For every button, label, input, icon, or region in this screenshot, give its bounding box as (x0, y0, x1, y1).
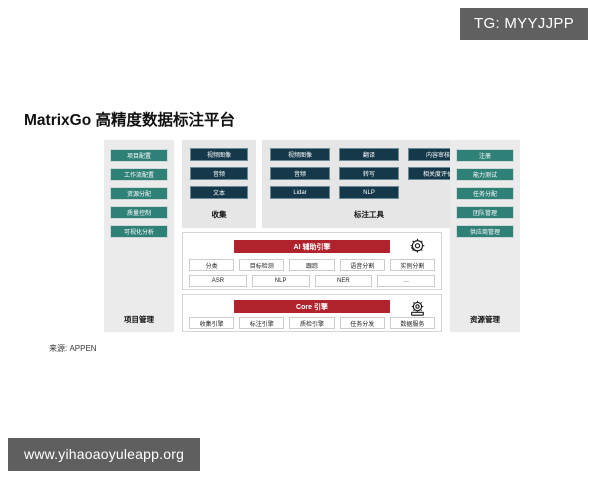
core-chip-3[interactable]: 任务分发 (340, 317, 385, 329)
ai-engine-row-a: 分类 目标检测 跟踪 语音分割 实例分割 (189, 259, 435, 271)
tools-column-1: 翻译 转写 NLP (339, 148, 399, 199)
tools-item-0-0[interactable]: 视频图像 (270, 148, 330, 161)
collect-item-0[interactable]: 视频图像 (190, 148, 248, 161)
ai-engine-panel: AI 辅助引擎 分类 目标检测 跟踪 语音分割 实例分割 ASR NLP NER… (182, 232, 442, 290)
collect-item-1[interactable]: 音频 (190, 167, 248, 180)
right-item-4[interactable]: 供应商管理 (456, 225, 514, 238)
page-title: MatrixGo 高精度数据标注平台 (24, 108, 235, 130)
left-item-2[interactable]: 资源分配 (110, 187, 168, 200)
left-item-4[interactable]: 可视化分析 (110, 225, 168, 238)
tools-item-1-0[interactable]: 翻译 (339, 148, 399, 161)
left-item-0[interactable]: 项目配置 (110, 149, 168, 162)
architecture-diagram: 项目配置 工作流配置 资源分配 质量控制 可视化分析 项目管理 视频图像 音频 … (104, 140, 520, 332)
core-chip-2[interactable]: 质检引擎 (289, 317, 334, 329)
tools-item-1-1[interactable]: 转写 (339, 167, 399, 180)
center-stack: 视频图像 音频 文本 收集 视频图像 音频 Lidar 翻译 转写 (182, 140, 442, 332)
core-gear-server-icon (408, 299, 427, 318)
ai-chip-b-3[interactable]: … (377, 275, 435, 287)
right-item-0[interactable]: 注册 (456, 149, 514, 162)
collect-group-label: 收集 (182, 209, 256, 220)
collect-item-2[interactable]: 文本 (190, 186, 248, 199)
ai-chip-b-1[interactable]: NLP (252, 275, 310, 287)
collect-items: 视频图像 音频 文本 (190, 148, 248, 199)
collect-group: 视频图像 音频 文本 收集 (182, 140, 256, 228)
annotation-tools-columns: 视频图像 音频 Lidar 翻译 转写 NLP 内容审核 相关度评价 (270, 148, 468, 199)
core-engine-panel: Core 引擎 收集引擎 标注引擎 质检引擎 任务分发 数据服务 (182, 294, 442, 332)
right-column-resource-management: 注册 能力测试 任务分配 团队管理 供应商管理 资源管理 (450, 140, 520, 332)
core-chip-0[interactable]: 收集引擎 (189, 317, 234, 329)
right-item-1[interactable]: 能力测试 (456, 168, 514, 181)
left-column-label: 项目管理 (104, 314, 174, 325)
right-column-label: 资源管理 (450, 314, 520, 325)
core-chip-1[interactable]: 标注引擎 (239, 317, 284, 329)
ai-gear-eye-icon (408, 237, 427, 256)
left-item-1[interactable]: 工作流配置 (110, 168, 168, 181)
tools-item-1-2[interactable]: NLP (339, 186, 399, 199)
ai-chip-b-2[interactable]: NER (315, 275, 373, 287)
watermark-url: www.yihaoaoyuleapp.org (8, 438, 200, 471)
tools-item-0-2[interactable]: Lidar (270, 186, 330, 199)
right-item-2[interactable]: 任务分配 (456, 187, 514, 200)
ai-engine-row-b: ASR NLP NER … (189, 275, 435, 287)
right-item-3[interactable]: 团队管理 (456, 206, 514, 219)
core-engine-row-a: 收集引擎 标注引擎 质检引擎 任务分发 数据服务 (189, 317, 435, 329)
ai-chip-a-0[interactable]: 分类 (189, 259, 234, 271)
tools-item-0-1[interactable]: 音频 (270, 167, 330, 180)
ai-chip-b-0[interactable]: ASR (189, 275, 247, 287)
tg-badge: TG: MYYJJPP (460, 8, 588, 40)
left-column-project-management: 项目配置 工作流配置 资源分配 质量控制 可视化分析 项目管理 (104, 140, 174, 332)
source-note: 来源: APPEN (49, 343, 97, 354)
ai-chip-a-3[interactable]: 语音分割 (340, 259, 385, 271)
tools-column-0: 视频图像 音频 Lidar (270, 148, 330, 199)
ai-chip-a-1[interactable]: 目标检测 (239, 259, 284, 271)
ai-chip-a-4[interactable]: 实例分割 (390, 259, 435, 271)
core-chip-4[interactable]: 数据服务 (390, 317, 435, 329)
core-engine-title: Core 引擎 (234, 300, 390, 313)
ai-engine-title: AI 辅助引擎 (234, 240, 390, 253)
top-groups: 视频图像 音频 文本 收集 视频图像 音频 Lidar 翻译 转写 (182, 140, 442, 228)
left-item-3[interactable]: 质量控制 (110, 206, 168, 219)
annotation-tools-group-label: 标注工具 (262, 209, 476, 220)
annotation-tools-group: 视频图像 音频 Lidar 翻译 转写 NLP 内容审核 相关度评价 标注工具 (262, 140, 476, 228)
ai-chip-a-2[interactable]: 跟踪 (289, 259, 334, 271)
